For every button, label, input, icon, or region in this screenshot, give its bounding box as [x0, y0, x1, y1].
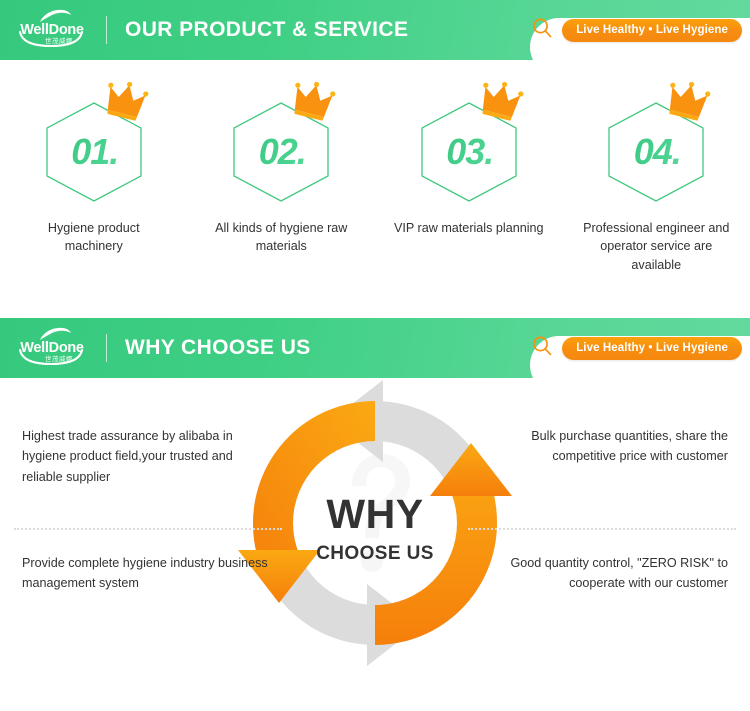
crown-icon [478, 82, 524, 129]
crown-icon [103, 82, 149, 129]
brand-name-cn: 世茂威娜 [45, 39, 73, 46]
why-choose-us-body: WHY CHOOSE US Highest trade assurance by… [0, 378, 750, 711]
product-card-list: 01. Hygiene product machinery [0, 60, 750, 280]
question-mark-icon [352, 454, 410, 572]
card-caption: VIP raw materials planning [394, 219, 544, 237]
slogan-badge[interactable]: Live Healthy • Live Hygiene [562, 337, 742, 360]
product-card: 02. All kinds of hygiene raw materials [188, 60, 376, 280]
section-title: WHY CHOOSE US [125, 336, 311, 360]
banner-badge-group: Live Healthy • Live Hygiene [531, 0, 742, 60]
brand-name-cn: 世茂威娜 [45, 357, 73, 364]
reason-left-top: Highest trade assurance by alibaba in hy… [22, 426, 272, 487]
brand-name: WellDone [20, 341, 83, 356]
banner-divider [106, 16, 107, 44]
banner-badge-group: Live Healthy • Live Hygiene [531, 318, 742, 378]
why-choose-us-section: WellDone 世茂威娜 WHY CHOOSE US Live Healthy… [0, 318, 750, 711]
section-title: OUR PRODUCT & SERVICE [125, 18, 408, 42]
reason-right-bottom: Good quantity control, "ZERO RISK" to co… [478, 553, 728, 594]
reasons-left-column: Highest trade assurance by alibaba in hy… [22, 378, 272, 711]
crown-icon [665, 82, 711, 129]
product-card: 04. Professional engineer and operator s… [563, 60, 750, 280]
search-icon[interactable] [531, 335, 553, 362]
brand-logo: WellDone 世茂威娜 [14, 325, 90, 371]
product-service-section: WellDone 世茂威娜 OUR PRODUCT & SERVICE Live… [0, 0, 750, 318]
product-service-banner: WellDone 世茂威娜 OUR PRODUCT & SERVICE Live… [0, 0, 750, 60]
card-caption: All kinds of hygiene raw materials [206, 219, 356, 256]
banner-divider [106, 334, 107, 362]
search-icon[interactable] [531, 17, 553, 44]
divider-left [14, 528, 282, 530]
brand-logo: WellDone 世茂威娜 [14, 7, 90, 53]
card-caption: Hygiene product machinery [19, 219, 169, 256]
product-card: 03. VIP raw materials planning [375, 60, 563, 280]
reason-left-bottom: Provide complete hygiene industry busine… [22, 553, 272, 594]
card-caption: Professional engineer and operator servi… [581, 219, 731, 274]
reasons-right-column: Bulk purchase quantities, share the comp… [478, 378, 728, 711]
brand-name: WellDone [20, 23, 83, 38]
slogan-badge[interactable]: Live Healthy • Live Hygiene [562, 19, 742, 42]
divider-right [468, 528, 736, 530]
product-card: 01. Hygiene product machinery [0, 60, 188, 280]
crown-icon [290, 82, 336, 129]
reason-right-top: Bulk purchase quantities, share the comp… [478, 426, 728, 467]
